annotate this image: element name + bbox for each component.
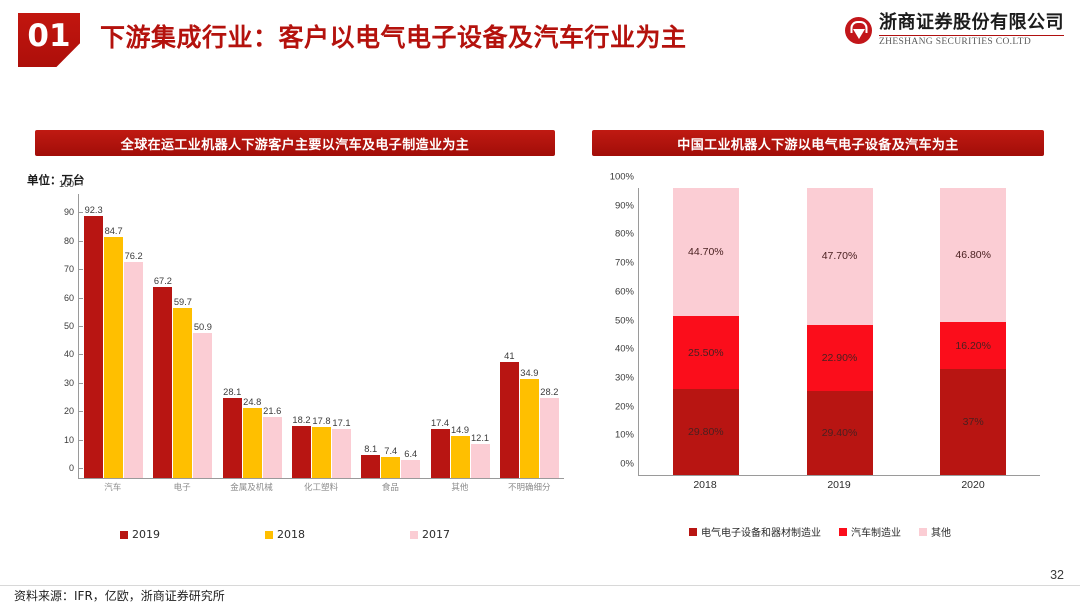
- left-chart-bar-value: 92.3: [85, 205, 103, 215]
- legend-item[interactable]: 其他: [919, 524, 951, 539]
- left-chart-x-label: 金属及机械: [217, 481, 286, 493]
- left-chart-bar-group: 18.217.817.1: [287, 194, 356, 478]
- left-chart-bar-value: 17.4: [431, 418, 449, 428]
- legend-swatch: [919, 528, 927, 536]
- left-chart-bar-value: 8.1: [364, 444, 377, 454]
- left-chart-bar: 8.1: [361, 455, 380, 478]
- right-chart-column: 47.70%22.90%29.40%: [773, 188, 907, 475]
- left-chart-y-tick: 100: [37, 179, 79, 189]
- left-chart-bar-value: 34.9: [520, 368, 538, 378]
- right-chart-stack-segment: 44.70%: [673, 188, 739, 316]
- left-chart-bar: 28.1: [223, 398, 242, 478]
- right-chart: 44.70%25.50%29.80%47.70%22.90%29.40%46.8…: [596, 180, 1044, 500]
- left-chart-title: 全球在运工业机器人下游客户主要以汽车及电子制造业为主: [35, 130, 555, 156]
- right-chart-stack-segment: 29.40%: [807, 391, 873, 475]
- right-chart-stack: 44.70%25.50%29.80%: [673, 188, 739, 475]
- left-chart-bar: 17.4: [431, 429, 450, 478]
- left-chart-y-tick: 0: [37, 463, 79, 473]
- left-chart-bar: 28.2: [540, 398, 559, 478]
- left-chart-legend: 201920182017: [120, 528, 450, 541]
- left-chart-bar: 76.2: [124, 262, 143, 478]
- right-chart-stacked-columns: 44.70%25.50%29.80%47.70%22.90%29.40%46.8…: [639, 188, 1040, 475]
- right-chart-segment-value: 16.20%: [955, 340, 991, 352]
- left-chart-x-label: 不明确细分: [495, 481, 564, 493]
- section-number-badge: 01: [18, 13, 80, 67]
- left-chart-x-label: 食品: [356, 481, 425, 493]
- left-chart-bar-value: 24.8: [243, 397, 261, 407]
- left-chart-bar-group: 17.414.912.1: [425, 194, 494, 478]
- right-chart-y-tick: 70%: [601, 258, 639, 269]
- right-chart-column: 44.70%25.50%29.80%: [639, 188, 773, 475]
- right-chart-stack: 46.80%16.20%37%: [940, 188, 1006, 475]
- left-chart-y-tick: 50: [37, 321, 79, 331]
- left-chart-bar-value: 18.2: [292, 415, 310, 425]
- right-chart-segment-value: 44.70%: [688, 246, 724, 258]
- left-chart-y-tick: 40: [37, 349, 79, 359]
- left-chart-bar-groups: 92.384.776.267.259.750.928.124.821.618.2…: [79, 194, 564, 478]
- legend-swatch: [265, 531, 273, 539]
- right-chart-stack-segment: 46.80%: [940, 188, 1006, 322]
- right-chart-x-label: 2020: [906, 479, 1040, 491]
- right-chart-y-tick: 90%: [601, 200, 639, 211]
- left-chart-y-tick: 20: [37, 406, 79, 416]
- logo-company-name-cn: 浙商证券股份有限公司: [879, 14, 1064, 36]
- left-chart-bar-value: 84.7: [105, 226, 123, 236]
- right-chart-segment-value: 22.90%: [822, 352, 858, 364]
- logo-text: 浙商证券股份有限公司 ZHESHANG SECURITIES CO.LTD: [879, 14, 1064, 48]
- left-chart-bar-value: 67.2: [154, 276, 172, 286]
- logo-company-name-en: ZHESHANG SECURITIES CO.LTD: [879, 38, 1064, 48]
- right-chart-stack-segment: 16.20%: [940, 322, 1006, 368]
- left-chart-bar-value: 12.1: [471, 433, 489, 443]
- right-chart-y-tick: 20%: [601, 401, 639, 412]
- left-chart-bar-group: 92.384.776.2: [79, 194, 148, 478]
- left-chart-bar: 92.3: [84, 216, 103, 478]
- left-chart-bar-value: 28.2: [540, 387, 558, 397]
- left-chart-bar: 17.8: [312, 427, 331, 478]
- zheshang-logo-icon: [845, 17, 872, 44]
- right-chart-stack-segment: 29.80%: [673, 389, 739, 475]
- left-chart-bar-value: 6.4: [404, 449, 417, 459]
- legend-label: 电气电子设备和器材制造业: [701, 524, 821, 539]
- legend-label: 其他: [931, 524, 951, 539]
- right-chart-legend: 电气电子设备和器材制造业汽车制造业其他: [620, 524, 1020, 539]
- right-chart-stack-segment: 47.70%: [807, 188, 873, 325]
- right-chart-stack-segment: 25.50%: [673, 316, 739, 389]
- left-chart-bar-value: 76.2: [125, 251, 143, 261]
- legend-swatch: [410, 531, 418, 539]
- footer-divider: [0, 585, 1080, 586]
- left-chart-x-label: 汽车: [78, 481, 147, 493]
- left-chart-bar: 84.7: [104, 237, 123, 478]
- left-chart-bar-group: 8.17.46.4: [356, 194, 425, 478]
- legend-item[interactable]: 2019: [120, 528, 160, 541]
- left-chart-bar-value: 17.8: [312, 416, 330, 426]
- left-chart-y-tick: 70: [37, 264, 79, 274]
- left-chart-y-tick: 10: [37, 435, 79, 445]
- right-chart-segment-value: 37%: [963, 416, 984, 428]
- legend-swatch: [839, 528, 847, 536]
- left-chart-bar: 50.9: [193, 333, 212, 478]
- left-chart-bar-group: 4134.928.2: [495, 194, 564, 478]
- left-chart-bar: 41: [500, 362, 519, 478]
- legend-item[interactable]: 汽车制造业: [839, 524, 901, 539]
- left-chart-bar: 14.9: [451, 436, 470, 478]
- right-chart-title: 中国工业机器人下游以电气电子设备及汽车为主: [592, 130, 1044, 156]
- left-chart-bar-value: 28.1: [223, 387, 241, 397]
- right-chart-segment-value: 25.50%: [688, 347, 724, 359]
- page-title: 下游集成行业：客户以电气电子设备及汽车行业为主: [100, 18, 687, 54]
- left-chart-bar-value: 59.7: [174, 297, 192, 307]
- right-chart-x-label: 2018: [638, 479, 772, 491]
- left-chart-bar-value: 17.1: [332, 418, 350, 428]
- right-chart-column: 46.80%16.20%37%: [906, 188, 1040, 475]
- left-chart-bar-group: 67.259.750.9: [148, 194, 217, 478]
- source-note: 资料来源：IFR，亿欧，浙商证券研究所: [14, 587, 225, 604]
- left-chart: 92.384.776.267.259.750.928.124.821.618.2…: [30, 186, 570, 501]
- slide-header: 01 下游集成行业：客户以电气电子设备及汽车行业为主 浙商证券股份有限公司 ZH…: [0, 0, 1080, 84]
- page-number: 32: [1050, 568, 1064, 582]
- left-chart-bar-value: 7.4: [384, 446, 397, 456]
- left-chart-x-axis-labels: 汽车电子金属及机械化工塑料食品其他不明确细分: [78, 481, 564, 499]
- right-chart-plot-area: 44.70%25.50%29.80%47.70%22.90%29.40%46.8…: [638, 188, 1040, 476]
- left-chart-bar: 24.8: [243, 408, 262, 478]
- right-chart-x-label: 2019: [772, 479, 906, 491]
- left-chart-bar-value: 41: [504, 351, 514, 361]
- right-chart-segment-value: 46.80%: [955, 249, 991, 261]
- company-logo: 浙商证券股份有限公司 ZHESHANG SECURITIES CO.LTD: [845, 14, 1064, 48]
- left-chart-y-tick: 30: [37, 378, 79, 388]
- left-chart-bar: 67.2: [153, 287, 172, 478]
- legend-label: 2017: [422, 528, 450, 541]
- left-chart-x-label: 化工塑料: [286, 481, 355, 493]
- left-chart-plot-area: 92.384.776.267.259.750.928.124.821.618.2…: [78, 194, 564, 479]
- right-chart-x-axis-labels: 201820192020: [638, 479, 1040, 497]
- left-chart-x-label: 电子: [147, 481, 216, 493]
- left-chart-bar-value: 14.9: [451, 425, 469, 435]
- right-chart-segment-value: 47.70%: [822, 250, 858, 262]
- legend-swatch: [120, 531, 128, 539]
- legend-label: 2019: [132, 528, 160, 541]
- left-chart-bar: 12.1: [471, 444, 490, 478]
- right-chart-y-tick: 100%: [601, 172, 639, 183]
- right-chart-segment-value: 29.40%: [822, 427, 858, 439]
- right-chart-y-tick: 60%: [601, 286, 639, 297]
- left-chart-x-label: 其他: [425, 481, 494, 493]
- left-chart-y-tick: 60: [37, 293, 79, 303]
- left-chart-bar: 59.7: [173, 308, 192, 478]
- legend-item[interactable]: 2018: [265, 528, 305, 541]
- legend-swatch: [689, 528, 697, 536]
- right-chart-y-tick: 40%: [601, 344, 639, 355]
- left-chart-bar: 34.9: [520, 379, 539, 478]
- left-chart-bar: 18.2: [292, 426, 311, 478]
- right-chart-y-tick: 30%: [601, 372, 639, 383]
- left-chart-y-tick: 90: [37, 207, 79, 217]
- right-chart-segment-value: 29.80%: [688, 426, 724, 438]
- left-chart-bar-value: 21.6: [263, 406, 281, 416]
- right-chart-stack: 47.70%22.90%29.40%: [807, 188, 873, 475]
- legend-item[interactable]: 2017: [410, 528, 450, 541]
- right-chart-stack-segment: 37%: [940, 369, 1006, 475]
- left-chart-y-tick: 80: [37, 236, 79, 246]
- legend-label: 汽车制造业: [851, 524, 901, 539]
- left-chart-bar-value: 50.9: [194, 322, 212, 332]
- right-chart-y-tick: 0%: [601, 459, 639, 470]
- right-chart-stack-segment: 22.90%: [807, 325, 873, 391]
- left-chart-bar: 17.1: [332, 429, 351, 478]
- right-chart-y-tick: 80%: [601, 229, 639, 240]
- left-chart-bar-group: 28.124.821.6: [218, 194, 287, 478]
- right-chart-y-tick: 10%: [601, 430, 639, 441]
- legend-label: 2018: [277, 528, 305, 541]
- left-chart-bar: 6.4: [401, 460, 420, 478]
- left-chart-bar: 7.4: [381, 457, 400, 478]
- legend-item[interactable]: 电气电子设备和器材制造业: [689, 524, 821, 539]
- slide: 01 下游集成行业：客户以电气电子设备及汽车行业为主 浙商证券股份有限公司 ZH…: [0, 0, 1080, 608]
- left-chart-bar: 21.6: [263, 417, 282, 478]
- right-chart-y-tick: 50%: [601, 315, 639, 326]
